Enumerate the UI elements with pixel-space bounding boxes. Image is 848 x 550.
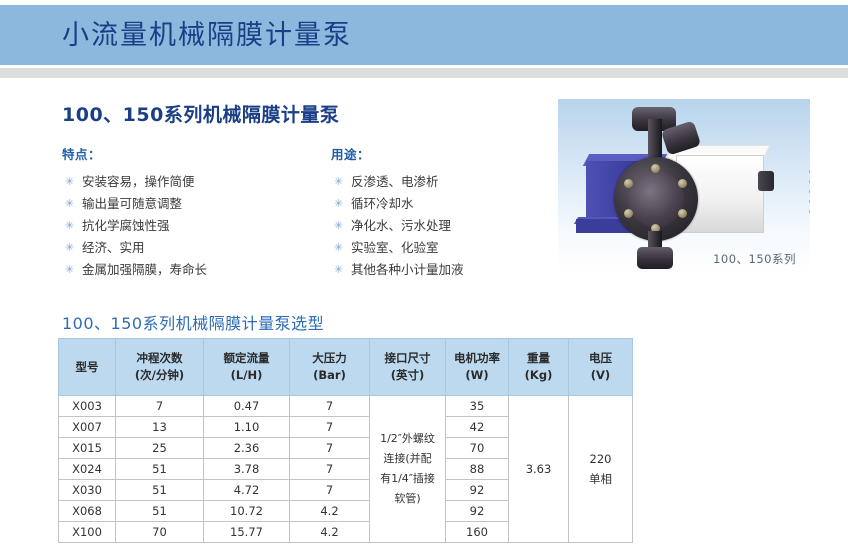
cell-model: X030 (59, 480, 116, 501)
cell-motor-power: 35 (446, 396, 509, 417)
cell-motor-power: 88 (446, 459, 509, 480)
list-item: ✳ 反渗透、电渗析 (331, 171, 581, 193)
cell-model: X024 (59, 459, 116, 480)
list-item: ✳ 其他各种小计量加液 (331, 259, 581, 281)
cell-voltage: 220 单相 (569, 396, 633, 543)
motor-vent (809, 170, 810, 173)
column-header-max-pressure: 大压力 (Bar) (290, 339, 370, 396)
asterisk-bullet-icon: ✳ (65, 193, 74, 215)
cell-motor-power: 42 (446, 417, 509, 438)
column-header-unit: (V) (569, 367, 632, 384)
list-item-label: 循环冷却水 (351, 196, 414, 211)
cell-rated-flow: 1.10 (204, 417, 290, 438)
column-header-main: 接口尺寸 (370, 350, 445, 367)
asterisk-bullet-icon: ✳ (334, 237, 343, 259)
cell-motor-power: 70 (446, 438, 509, 459)
column-header-unit: (Kg) (509, 367, 568, 384)
usage-list: ✳ 反渗透、电渗析 ✳ 循环冷却水 ✳ 净化水、污水处理 ✳ 实验室、化验室 ✳… (331, 171, 581, 281)
list-item: ✳ 输出量可随意调整 (62, 193, 312, 215)
cell-max-pressure: 7 (290, 459, 370, 480)
column-header-unit: (W) (446, 367, 508, 384)
cell-max-pressure: 7 (290, 438, 370, 459)
voltage-value: 220 (569, 449, 632, 469)
cell-port-size: 1/2″外螺纹连接(并配有1/4″插接软管) (370, 396, 446, 543)
list-item: ✳ 实验室、化验室 (331, 237, 581, 259)
product-heading: 100、150系列机械隔膜计量泵 (62, 100, 339, 127)
list-item: ✳ 净化水、污水处理 (331, 215, 581, 237)
cell-model: X003 (59, 396, 116, 417)
column-header-main: 大压力 (290, 350, 369, 367)
cell-motor-power: 160 (446, 522, 509, 543)
bottom-valve-cap (637, 247, 673, 269)
column-header-unit: (英寸) (370, 367, 445, 384)
list-item-label: 安装容易，操作简便 (82, 174, 195, 189)
motor-vent (809, 200, 810, 203)
cell-stroke-rate: 51 (116, 501, 204, 522)
pump-head-bolt (624, 209, 633, 218)
column-header-main: 冲程次数 (116, 350, 203, 367)
motor-vent (809, 180, 810, 183)
cell-max-pressure: 7 (290, 396, 370, 417)
cell-max-pressure: 4.2 (290, 522, 370, 543)
asterisk-bullet-icon: ✳ (65, 259, 74, 281)
column-header-unit: (L/H) (204, 367, 289, 384)
motor-vent (809, 190, 810, 193)
pump-head-bolt (678, 209, 687, 218)
cell-stroke-rate: 51 (116, 480, 204, 501)
list-item: ✳ 经济、实用 (62, 237, 312, 259)
pump-head-bolt (678, 179, 687, 188)
list-item: ✳ 安装容易，操作简便 (62, 171, 312, 193)
cell-stroke-rate: 7 (116, 396, 204, 417)
cell-rated-flow: 4.72 (204, 480, 290, 501)
column-header-motor-power: 电机功率 (W) (446, 339, 509, 396)
column-header-voltage: 电压 (V) (569, 339, 633, 396)
asterisk-bullet-icon: ✳ (334, 193, 343, 215)
selection-table: 型号 冲程次数 (次/分钟) 额定流量 (L/H) 大压力 (Bar) 接口尺寸… (58, 338, 633, 543)
column-header-weight: 重量 (Kg) (509, 339, 569, 396)
pump-head-bolt (624, 179, 633, 188)
asterisk-bullet-icon: ✳ (334, 259, 343, 281)
cell-weight: 3.63 (509, 396, 569, 543)
cell-stroke-rate: 25 (116, 438, 204, 459)
motor-knob (758, 171, 774, 191)
motor-vent (809, 210, 810, 213)
list-item-label: 金属加强隔膜，寿命长 (82, 262, 207, 277)
column-header-main: 额定流量 (204, 350, 289, 367)
product-photo: 100、150系列 (558, 99, 810, 273)
cell-model: X007 (59, 417, 116, 438)
cell-max-pressure: 7 (290, 480, 370, 501)
column-header-rated-flow: 额定流量 (L/H) (204, 339, 290, 396)
cell-rated-flow: 2.36 (204, 438, 290, 459)
cell-stroke-rate: 13 (116, 417, 204, 438)
asterisk-bullet-icon: ✳ (334, 215, 343, 237)
list-item-label: 抗化学腐蚀性强 (82, 218, 170, 233)
column-header-main: 电压 (569, 350, 632, 367)
asterisk-bullet-icon: ✳ (65, 171, 74, 193)
asterisk-bullet-icon: ✳ (65, 237, 74, 259)
cell-rated-flow: 0.47 (204, 396, 290, 417)
cell-model: X015 (59, 438, 116, 459)
list-item: ✳ 金属加强隔膜，寿命长 (62, 259, 312, 281)
cell-motor-power: 92 (446, 480, 509, 501)
features-list: ✳ 安装容易，操作简便 ✳ 输出量可随意调整 ✳ 抗化学腐蚀性强 ✳ 经济、实用… (62, 171, 312, 281)
list-item-label: 实验室、化验室 (351, 240, 439, 255)
features-column: 特点： ✳ 安装容易，操作简便 ✳ 输出量可随意调整 ✳ 抗化学腐蚀性强 ✳ 经… (62, 144, 312, 281)
list-item: ✳ 循环冷却水 (331, 193, 581, 215)
table-header-row: 型号 冲程次数 (次/分钟) 额定流量 (L/H) 大压力 (Bar) 接口尺寸… (59, 339, 633, 396)
list-item-label: 其他各种小计量加液 (351, 262, 464, 277)
table-row: X003 7 0.47 7 1/2″外螺纹连接(并配有1/4″插接软管) 35 … (59, 396, 633, 417)
cell-max-pressure: 7 (290, 417, 370, 438)
banner-underbar-divider (0, 68, 848, 79)
cell-rated-flow: 15.77 (204, 522, 290, 543)
column-header-unit: (次/分钟) (116, 367, 203, 384)
asterisk-bullet-icon: ✳ (334, 171, 343, 193)
column-header-model: 型号 (59, 339, 116, 396)
column-header-main: 重量 (509, 350, 568, 367)
cell-rated-flow: 3.78 (204, 459, 290, 480)
selection-table-heading: 100、150系列机械隔膜计量泵选型 (62, 310, 324, 334)
asterisk-bullet-icon: ✳ (65, 215, 74, 237)
cell-stroke-rate: 70 (116, 522, 204, 543)
list-item-label: 反渗透、电渗析 (351, 174, 439, 189)
list-item-label: 输出量可随意调整 (82, 196, 182, 211)
column-header-port-size: 接口尺寸 (英寸) (370, 339, 446, 396)
cell-model: X100 (59, 522, 116, 543)
usage-column: 用途： ✳ 反渗透、电渗析 ✳ 循环冷却水 ✳ 净化水、污水处理 ✳ 实验室、化… (331, 144, 581, 281)
list-item: ✳ 抗化学腐蚀性强 (62, 215, 312, 237)
column-header-main: 电机功率 (446, 350, 508, 367)
features-title: 特点： (62, 144, 312, 163)
page-title: 小流量机械隔膜计量泵 (62, 22, 352, 49)
column-header-unit: (Bar) (290, 367, 369, 384)
page-banner: 小流量机械隔膜计量泵 (0, 5, 848, 65)
photo-caption: 100、150系列 (713, 251, 796, 267)
voltage-phase: 单相 (569, 469, 632, 489)
cell-stroke-rate: 51 (116, 459, 204, 480)
cell-motor-power: 92 (446, 501, 509, 522)
list-item-label: 净化水、污水处理 (351, 218, 451, 233)
cell-rated-flow: 10.72 (204, 501, 290, 522)
list-item-label: 经济、实用 (82, 240, 145, 255)
usage-title: 用途： (331, 144, 581, 163)
pump-head (614, 157, 698, 241)
pump-head-diaphragm (628, 171, 684, 227)
cell-max-pressure: 4.2 (290, 501, 370, 522)
cell-model: X068 (59, 501, 116, 522)
column-header-stroke-rate: 冲程次数 (次/分钟) (116, 339, 204, 396)
pump-head-bolt (651, 164, 660, 173)
column-header-main: 型号 (59, 359, 115, 376)
